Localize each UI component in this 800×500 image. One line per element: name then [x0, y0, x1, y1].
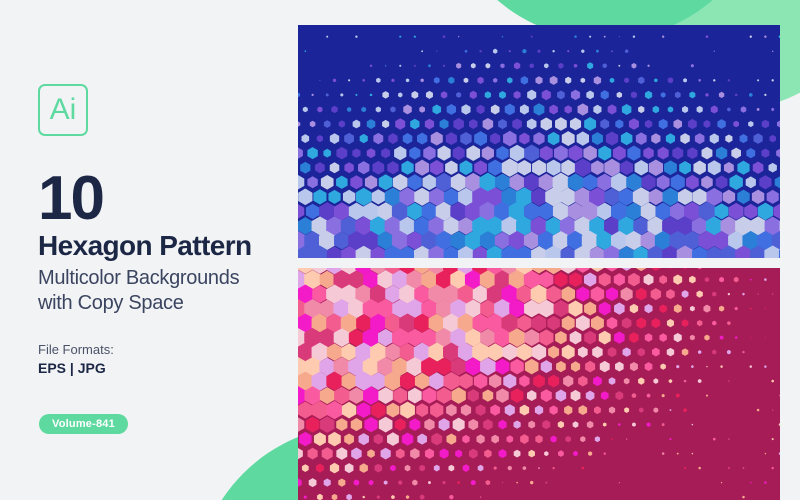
adobe-illustrator-badge-label: Ai	[50, 95, 77, 125]
pack-count: 10	[38, 168, 103, 230]
pink-hexagon-pattern	[298, 268, 780, 500]
poster-canvas: Ai 10 Hexagon Pattern Multicolor Backgro…	[0, 0, 800, 500]
page-title: Hexagon Pattern	[38, 232, 252, 260]
blue-hexagon-pattern	[298, 25, 780, 258]
blue-hexagon-preview	[298, 25, 780, 258]
adobe-illustrator-badge-icon: Ai	[38, 84, 88, 136]
volume-badge-label: Volume-841	[52, 419, 115, 430]
file-formats-label: File Formats:	[38, 343, 114, 356]
pink-hexagon-preview	[298, 268, 780, 500]
info-panel: Ai 10 Hexagon Pattern Multicolor Backgro…	[38, 0, 288, 500]
page-subtitle-line-2: with Copy Space	[38, 291, 239, 316]
page-subtitle: Multicolor Backgrounds with Copy Space	[38, 266, 239, 316]
file-formats-value: EPS | JPG	[38, 361, 106, 375]
page-subtitle-line-1: Multicolor Backgrounds	[38, 266, 239, 291]
volume-badge: Volume-841	[39, 414, 128, 434]
